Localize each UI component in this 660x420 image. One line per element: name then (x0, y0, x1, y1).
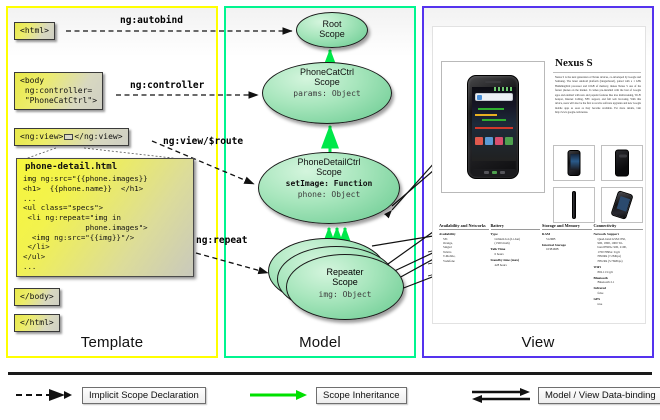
device-statusbar (494, 87, 514, 91)
scope-phonedetailctrl-line2: Scope (316, 167, 342, 177)
column-label-model: Model (224, 334, 416, 418)
column-label-template: Template (6, 334, 218, 418)
spec-value: 428 hours (491, 263, 541, 267)
legend-item-scope-inheritance: Scope Inheritance (248, 386, 407, 404)
legend-divider (8, 372, 652, 375)
nexus-s-hero-image (467, 75, 519, 179)
scope-repeater-title: Repeater Scope (287, 255, 403, 287)
scope-phonedetailctrl: PhoneDetailCtrl Scope setImage: Function… (258, 152, 400, 224)
scope-repeater-line2: Scope (332, 277, 358, 287)
scope-phonecatctrl-title: PhoneCatCtrl Scope (263, 63, 391, 87)
label-ng-repeat: ng:repeat (196, 235, 247, 246)
device-widget-2 (475, 114, 497, 116)
scope-root-line1: Root (322, 19, 341, 29)
ngview-close-label: </ng:view> (74, 132, 122, 141)
thumbnail-nexus-s-front[interactable] (553, 145, 595, 181)
scope-phonecatctrl-line2: Scope (314, 77, 340, 87)
spec-heading: Storage and Memory (542, 223, 592, 230)
note-filename: phone-detail.html (17, 159, 193, 174)
label-ng-controller: ng:controller (130, 80, 204, 91)
spec-heading: Availability and Networks (439, 223, 489, 230)
scope-phonecatctrl-prop-params: params: Object (263, 89, 391, 98)
phone-detail-note: phone-detail.html img ng:src="{{phone.im… (16, 158, 194, 277)
legend-item-data-binding: Model / View Data-binding (470, 386, 660, 404)
legend-label-data-binding: Model / View Data-binding (538, 387, 660, 404)
device-navbar (472, 169, 516, 176)
tag-body-close: </body> (14, 288, 60, 306)
scope-phonedetailctrl-title: PhoneDetailCtrl Scope (259, 153, 399, 177)
device-speaker (485, 81, 501, 83)
product-description: Nexus S is the next generation of Nexus … (555, 76, 641, 138)
spec-value: (1500 mAh) (491, 241, 541, 245)
tag-html-open: <html> (14, 22, 55, 40)
thumbnail-grid (553, 145, 645, 223)
tag-ngview: <ng:view></ng:view> (14, 128, 129, 146)
scope-phonedetailctrl-prop-phone: phone: Object (259, 190, 399, 199)
title-divider (553, 72, 641, 73)
spec-value: 512MB (542, 237, 592, 241)
spec-value: HSUPA (5.76Mbps) (594, 259, 644, 263)
green-arrow-icon (248, 386, 310, 404)
spec-col-connectivity: Connectivity Network Support Quad-band G… (594, 223, 644, 306)
label-ng-autobind: ng:autobind (120, 15, 183, 26)
legend-label-scope-inheritance: Scope Inheritance (316, 387, 407, 404)
spec-heading: Connectivity (594, 223, 644, 230)
scope-repeater-prop-img: img: Object (287, 290, 403, 299)
diagram-canvas: <html> <body ng:controller= "PhoneCatCtr… (0, 0, 660, 420)
device-searchbar (475, 93, 513, 101)
scope-repeater: Repeater Scope img: Object (286, 254, 404, 320)
dashed-arrow-icon (14, 386, 76, 404)
spec-value: false (594, 291, 644, 295)
spec-col-storage: Storage and Memory RAM 512MB Internal St… (542, 223, 592, 306)
tag-body-open: <body ng:controller= "PhoneCatCtrl"> (14, 72, 103, 110)
legend-label-implicit-scope: Implicit Scope Declaration (82, 387, 206, 404)
scope-root-line2: Scope (319, 29, 345, 39)
column-label-view: View (422, 334, 654, 418)
product-title: Nexus S (555, 57, 593, 69)
scope-root-title: Root Scope (297, 13, 367, 39)
device-screen (472, 87, 516, 161)
spec-col-availability: Availability and Networks Availability S… (439, 223, 489, 306)
scope-phonedetailctrl-prop-setimage: setImage: Function (259, 179, 399, 188)
ngview-placeholder-icon (64, 134, 73, 140)
thumbnail-nexus-s-side[interactable] (553, 187, 595, 223)
spec-value: 16384MB (542, 247, 592, 251)
note-code: img ng:src="{{phone.images}} <h1> {{phon… (17, 174, 193, 276)
scope-root: Root Scope (296, 12, 368, 48)
legend-item-implicit-scope: Implicit Scope Declaration (14, 386, 206, 404)
spec-value: 802.11 b/g/n (594, 270, 644, 274)
thumbnail-nexus-s-angled[interactable] (601, 187, 643, 223)
device-dock (474, 137, 514, 149)
tag-html-close: </html> (14, 314, 60, 332)
ngview-open-label: <ng:view> (20, 132, 63, 141)
spec-value: Vodafone (439, 259, 489, 263)
view-rendered-page: Nexus S Nexus S is the next generation o… (432, 26, 646, 324)
device-widget-4 (475, 127, 513, 129)
spec-table: Availability and Networks Availability S… (439, 223, 643, 306)
spec-heading: Battery (491, 223, 541, 230)
scope-repeater-line1: Repeater (326, 267, 363, 277)
thumbnail-nexus-s-back[interactable] (601, 145, 643, 181)
hero-image-frame (441, 61, 545, 193)
spec-value: true (594, 302, 644, 306)
device-widget-3 (482, 119, 506, 121)
spec-value: 6 hours (491, 252, 541, 256)
spec-value: Bluetooth 2.1 (594, 280, 644, 284)
label-ng-view-route: ng:view/$route (163, 136, 243, 147)
scope-phonedetailctrl-line1: PhoneDetailCtrl (297, 157, 360, 167)
scope-phonecatctrl-line1: PhoneCatCtrl (300, 67, 354, 77)
spec-col-battery: Battery Type Lithium Ion (Li-Ion) (1500 … (491, 223, 541, 306)
double-arrow-icon (470, 386, 532, 404)
scope-phonecatctrl: PhoneCatCtrl Scope params: Object (262, 62, 392, 124)
device-widget-1 (478, 108, 504, 110)
